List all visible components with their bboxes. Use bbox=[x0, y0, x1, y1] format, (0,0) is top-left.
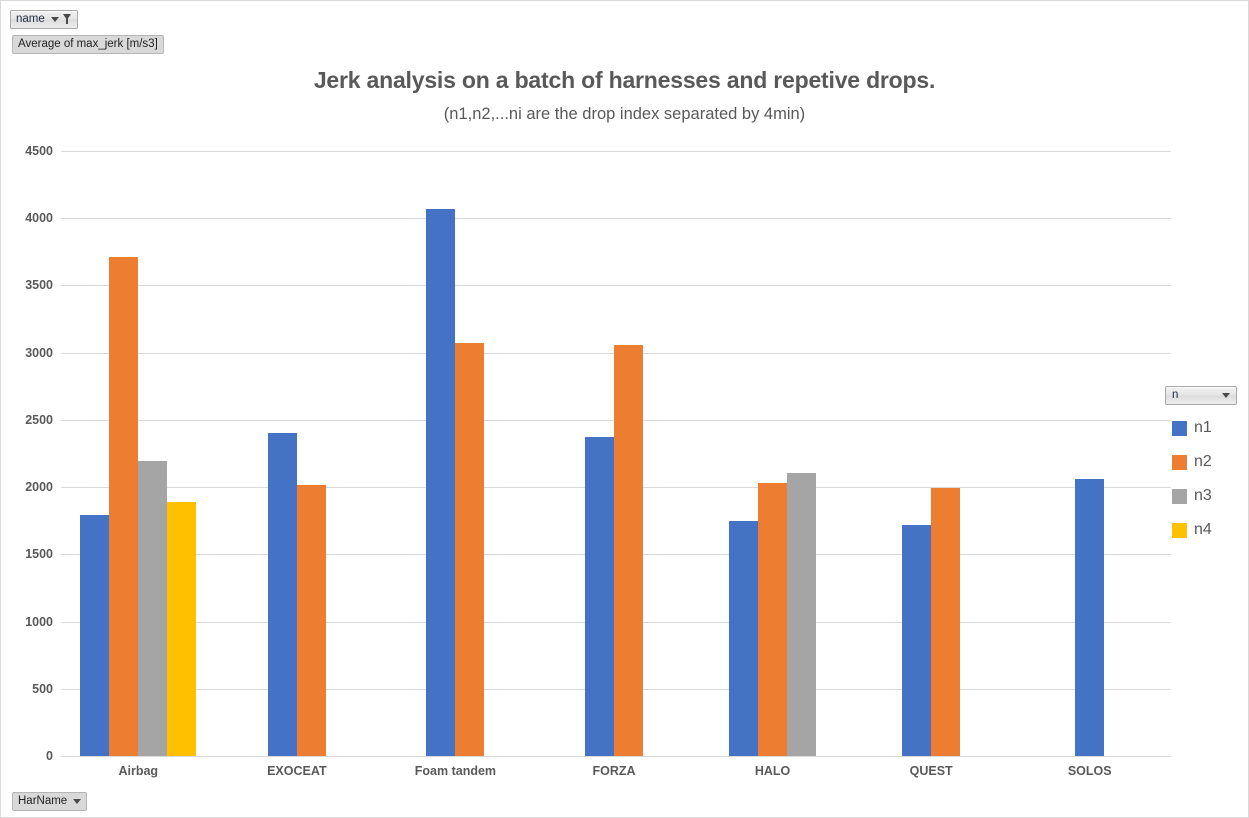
legend-item-label: n3 bbox=[1194, 487, 1212, 505]
y-axis-tick-label: 2000 bbox=[1, 480, 53, 494]
bar-foam-tandem-n1[interactable] bbox=[426, 209, 455, 756]
pivot-filter-name[interactable]: name bbox=[10, 10, 78, 29]
x-axis-tick-label: EXOCEAT bbox=[267, 764, 327, 778]
y-axis-tick-label: 1000 bbox=[1, 615, 53, 629]
y-axis-tick-label: 3000 bbox=[1, 346, 53, 360]
bar-quest-n1[interactable] bbox=[902, 525, 931, 756]
chart-legend: n1n2n3n4 bbox=[1172, 411, 1234, 547]
pivot-value-field-label: Average of max_jerk [m/s3] bbox=[18, 37, 158, 51]
legend-item-n1[interactable]: n1 bbox=[1172, 411, 1234, 445]
bar-quest-n2[interactable] bbox=[931, 488, 960, 756]
legend-swatch-icon bbox=[1172, 489, 1187, 504]
pivot-filter-harname-label: HarName bbox=[18, 794, 67, 808]
bar-airbag-n1[interactable] bbox=[80, 515, 109, 756]
legend-swatch-icon bbox=[1172, 455, 1187, 470]
bar-airbag-n4[interactable] bbox=[167, 502, 196, 756]
bar-halo-n2[interactable] bbox=[758, 483, 787, 756]
legend-item-n4[interactable]: n4 bbox=[1172, 513, 1234, 547]
gridline bbox=[61, 756, 1171, 757]
x-axis-tick-label: Airbag bbox=[118, 764, 158, 778]
bar-foam-tandem-n2[interactable] bbox=[455, 343, 484, 756]
x-axis-tick-label: Foam tandem bbox=[415, 764, 496, 778]
y-axis-labels: 050010001500200025003000350040004500 bbox=[1, 151, 53, 756]
y-axis-tick-label: 3500 bbox=[1, 278, 53, 292]
y-axis-tick-label: 4000 bbox=[1, 211, 53, 225]
x-axis-tick-label: FORZA bbox=[592, 764, 635, 778]
y-axis-tick-label: 0 bbox=[1, 749, 53, 763]
legend-swatch-icon bbox=[1172, 523, 1187, 538]
bar-airbag-n3[interactable] bbox=[138, 461, 167, 756]
chart-title: Jerk analysis on a batch of harnesses an… bbox=[1, 67, 1248, 94]
chevron-down-icon bbox=[1222, 393, 1230, 398]
pivot-value-field[interactable]: Average of max_jerk [m/s3] bbox=[12, 35, 164, 54]
legend-item-label: n2 bbox=[1194, 453, 1212, 471]
bar-halo-n1[interactable] bbox=[729, 521, 758, 756]
pivot-filter-name-label: name bbox=[16, 12, 45, 26]
bar-halo-n3[interactable] bbox=[787, 473, 816, 756]
y-axis-tick-label: 4500 bbox=[1, 144, 53, 158]
bar-airbag-n2[interactable] bbox=[109, 257, 138, 756]
filter-funnel-icon bbox=[63, 14, 72, 24]
pivot-filter-harname[interactable]: HarName bbox=[12, 792, 87, 811]
bar-exoceat-n2[interactable] bbox=[297, 485, 326, 756]
legend-item-n2[interactable]: n2 bbox=[1172, 445, 1234, 479]
pivot-filter-legend[interactable]: n bbox=[1165, 386, 1237, 405]
x-axis-labels: AirbagEXOCEATFoam tandemFORZAHALOQUESTSO… bbox=[61, 758, 1171, 788]
legend-item-label: n1 bbox=[1194, 419, 1212, 437]
bar-forza-n1[interactable] bbox=[585, 437, 614, 756]
bar-exoceat-n1[interactable] bbox=[268, 433, 297, 756]
gridline bbox=[61, 285, 1171, 286]
legend-item-n3[interactable]: n3 bbox=[1172, 479, 1234, 513]
chart-subtitle: (n1,n2,...ni are the drop index separate… bbox=[1, 105, 1248, 124]
bar-solos-n1[interactable] bbox=[1075, 479, 1104, 756]
y-axis-tick-label: 1500 bbox=[1, 547, 53, 561]
legend-swatch-icon bbox=[1172, 421, 1187, 436]
chevron-down-icon bbox=[73, 799, 81, 804]
x-axis-tick-label: QUEST bbox=[910, 764, 953, 778]
x-axis-tick-label: HALO bbox=[755, 764, 790, 778]
bar-forza-n2[interactable] bbox=[614, 345, 643, 756]
chart-plot-area bbox=[61, 151, 1171, 756]
gridline bbox=[61, 151, 1171, 152]
y-axis-tick-label: 500 bbox=[1, 682, 53, 696]
x-axis-tick-label: SOLOS bbox=[1068, 764, 1112, 778]
pivot-filter-legend-label: n bbox=[1172, 388, 1178, 402]
legend-item-label: n4 bbox=[1194, 521, 1212, 539]
gridline bbox=[61, 218, 1171, 219]
chevron-down-icon bbox=[51, 17, 59, 22]
y-axis-tick-label: 2500 bbox=[1, 413, 53, 427]
